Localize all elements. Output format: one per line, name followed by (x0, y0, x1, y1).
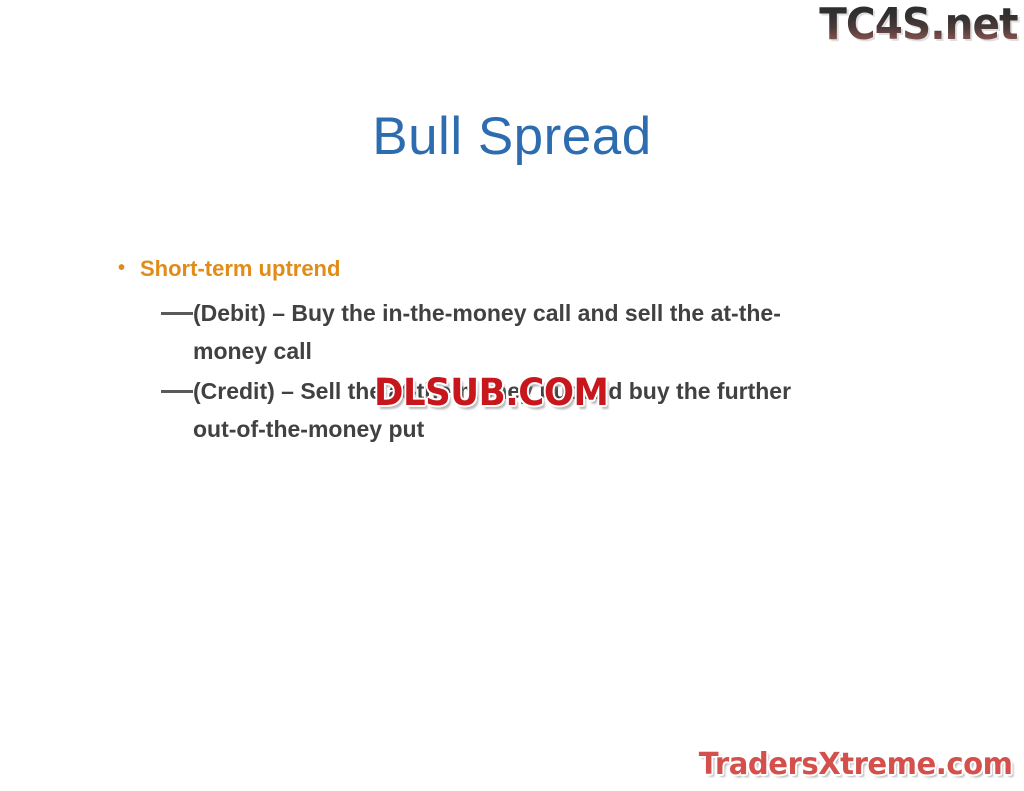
em-dash-icon (160, 372, 193, 410)
tradersxtreme-watermark: TradersXtreme.com (698, 748, 1012, 782)
em-dash-icon (160, 294, 193, 332)
bullet-level2-debit-text: (Debit) – Buy the in-the-money call and … (193, 294, 793, 370)
bullet-list: • Short-term uptrend (Debit) – Buy the i… (118, 252, 818, 450)
slide-canvas: TC4S.net TC4S.net Bull Spread • Short-te… (0, 0, 1024, 791)
slide-title: Bull Spread (0, 106, 1024, 168)
tc4s-logo: TC4S.net (820, 2, 1018, 48)
dlsub-watermark: DLSUB.COM (374, 373, 608, 413)
bullet-level2-debit: (Debit) – Buy the in-the-money call and … (160, 294, 818, 370)
bullet-dot-icon: • (118, 252, 140, 285)
bullet-level1: • Short-term uptrend (118, 252, 818, 285)
bullet-level1-text: Short-term uptrend (140, 252, 818, 285)
